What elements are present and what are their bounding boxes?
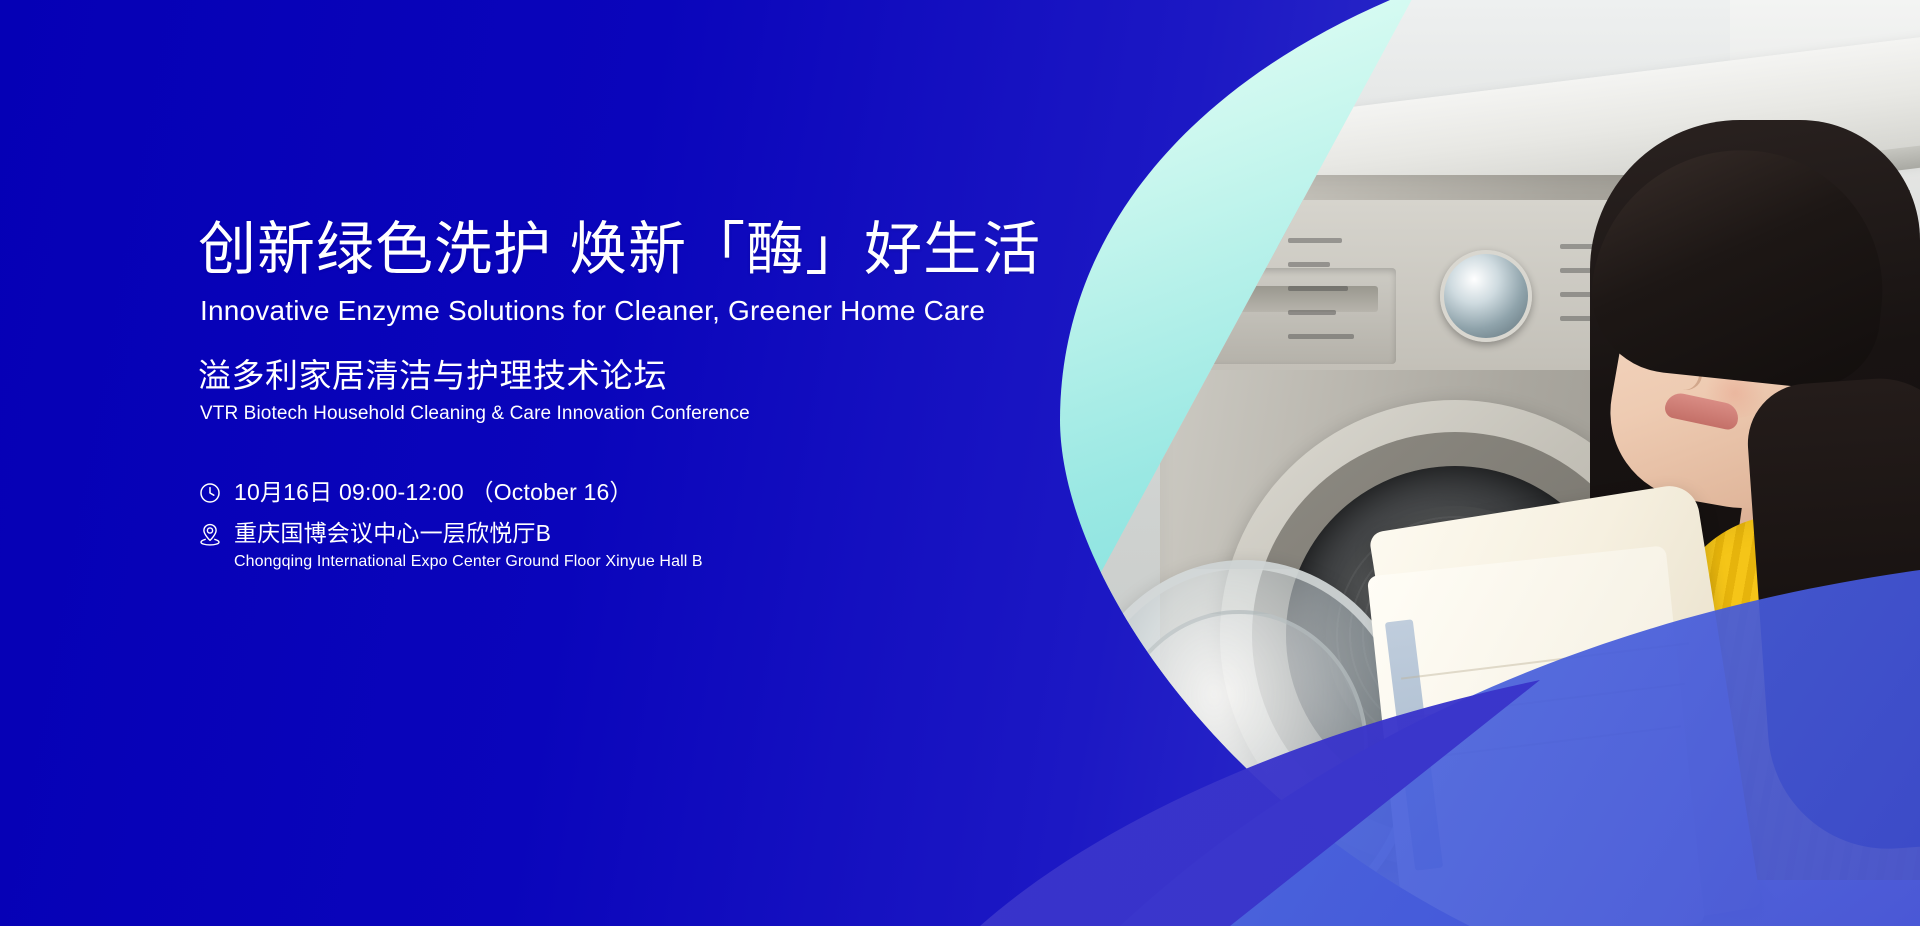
banner-subtitle-chinese: 溢多利家居清洁与护理技术论坛 — [198, 358, 667, 394]
banner-subtitle-english: VTR Biotech Household Cleaning & Care In… — [200, 404, 750, 425]
location-pin-icon — [198, 522, 222, 546]
event-datetime-row: 10月16日 09:00-12:00 （October 16） — [198, 478, 998, 507]
event-banner: 创新绿色洗护 焕新「酶」好生活 Innovative Enzyme Soluti… — [0, 0, 1920, 926]
banner-content: 创新绿色洗护 焕新「酶」好生活 Innovative Enzyme Soluti… — [198, 0, 1098, 926]
event-datetime-text: 10月16日 09:00-12:00 （October 16） — [234, 478, 633, 507]
banner-title-english: Innovative Enzyme Solutions for Cleaner,… — [200, 296, 985, 327]
event-venue-english: Chongqing International Expo Center Grou… — [234, 550, 703, 573]
machine-dial-icon — [1440, 250, 1532, 342]
event-venue-chinese: 重庆国博会议中心一层欣悦厅B — [234, 519, 703, 548]
clock-icon — [198, 481, 222, 505]
banner-title-chinese: 创新绿色洗护 焕新「酶」好生活 — [198, 221, 1041, 279]
event-details: 10月16日 09:00-12:00 （October 16） 重庆国博会议中心… — [198, 478, 998, 585]
event-location-row: 重庆国博会议中心一层欣悦厅B Chongqing International E… — [198, 519, 998, 573]
